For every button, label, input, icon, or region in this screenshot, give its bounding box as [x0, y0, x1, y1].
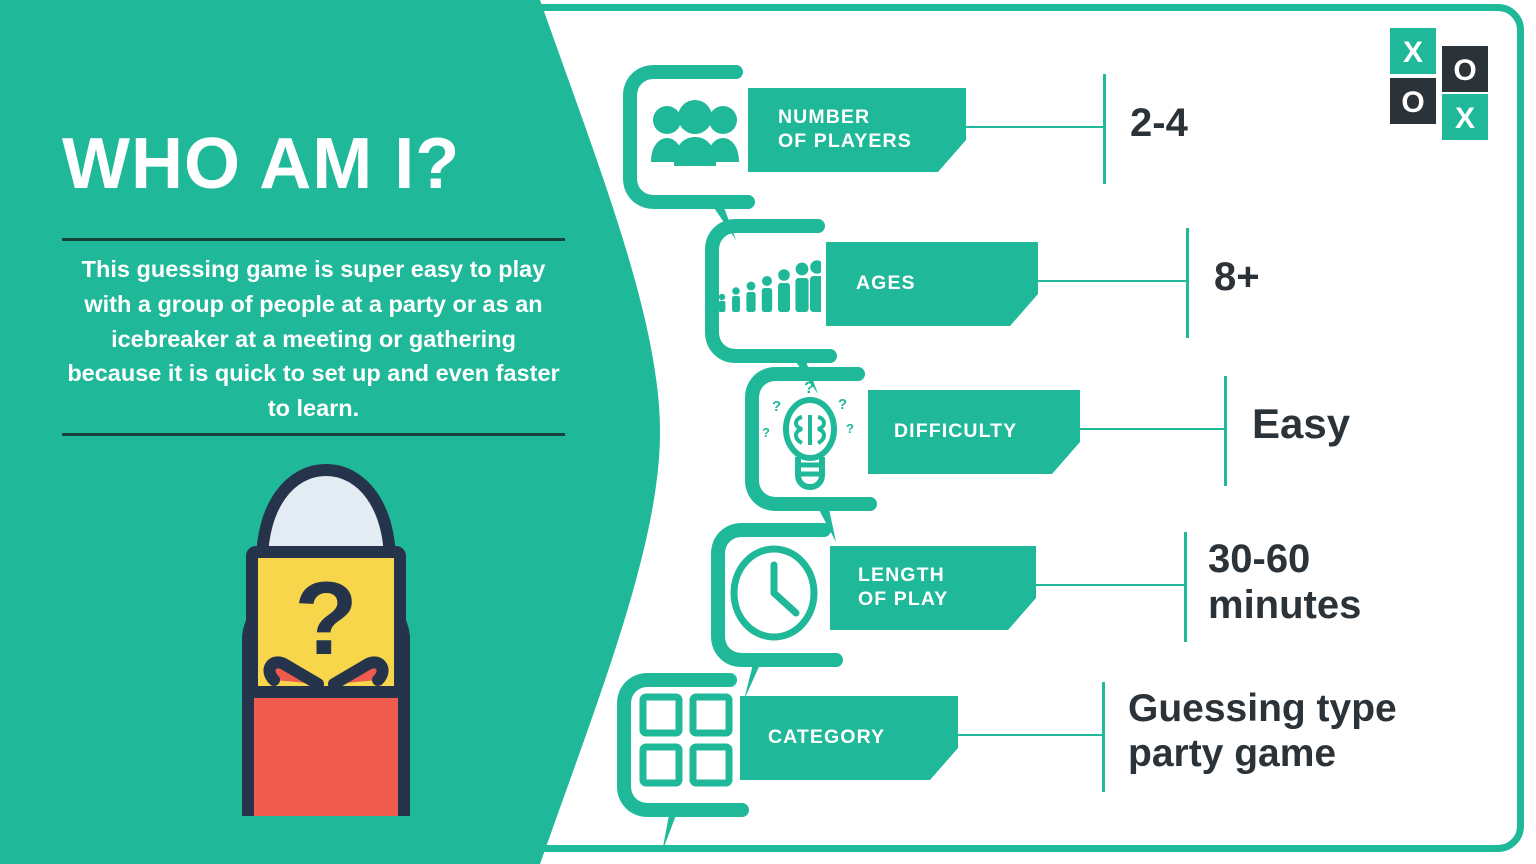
connector-line	[1030, 280, 1186, 282]
person-holding-question-card-illustration: ?	[186, 444, 466, 816]
banner-category: CATEGORY	[740, 696, 958, 780]
card-question-mark: ?	[294, 561, 358, 677]
connector-line	[1028, 584, 1184, 586]
banner-number-of-players: NUMBER OF PLAYERS	[748, 88, 966, 172]
row-label: NUMBER OF PLAYERS	[778, 106, 912, 154]
row-value: Guessing type party game	[1128, 686, 1528, 776]
banner-difficulty: DIFFICULTY	[868, 390, 1080, 474]
row-value: 8+	[1214, 254, 1534, 300]
group-of-people-icon	[644, 92, 746, 174]
svg-text:?: ?	[804, 381, 814, 397]
tick-bar	[1224, 376, 1227, 486]
brain-lightbulb-icon: ? ? ? ? ?	[758, 378, 862, 496]
svg-text:X: X	[1455, 102, 1475, 135]
row-category: CATEGORY Guessing type party game	[612, 668, 1532, 818]
tic-tac-toe-logo: X O O X	[1390, 28, 1490, 140]
clock-icon	[720, 542, 828, 644]
tick-bar	[1103, 74, 1106, 184]
page-title: WHO AM I?	[62, 128, 582, 200]
svg-text:O: O	[1401, 86, 1424, 119]
row-value: Easy	[1252, 400, 1536, 449]
tick-bar	[1102, 682, 1105, 792]
banner-ages: AGES	[826, 242, 1038, 326]
divider-bottom	[62, 433, 565, 436]
four-squares-grid-icon	[634, 690, 738, 790]
row-difficulty: ? ? ? ? ? DIFFICULTY Easy	[740, 362, 1536, 512]
banner-length-of-play: LENGTH OF PLAY	[830, 546, 1036, 630]
svg-text:?: ?	[772, 398, 781, 415]
connector-line	[948, 734, 1102, 736]
row-number-of-players: NUMBER OF PLAYERS 2-4	[618, 60, 1498, 210]
divider-top	[62, 238, 565, 241]
svg-text:?: ?	[846, 421, 854, 436]
row-label: DIFFICULTY	[894, 420, 1017, 444]
tick-bar	[1184, 532, 1187, 642]
connector-line	[956, 126, 1104, 128]
row-label: CATEGORY	[768, 726, 885, 750]
row-value: 30-60 minutes	[1208, 536, 1536, 629]
row-label: LENGTH OF PLAY	[858, 564, 948, 612]
row-label: AGES	[856, 272, 916, 296]
row-ages: AGES 8+	[700, 214, 1520, 364]
infographic-canvas: WHO AM I? This guessing game is super ea…	[0, 0, 1536, 864]
connector-line	[1074, 428, 1224, 430]
svg-text:O: O	[1453, 54, 1476, 87]
svg-text:X: X	[1403, 36, 1423, 69]
svg-text:?: ?	[762, 425, 770, 440]
row-length-of-play: LENGTH OF PLAY 30-60 minutes	[706, 518, 1536, 668]
description-text: This guessing game is super easy to play…	[62, 252, 565, 426]
ages-growth-people-icon	[712, 254, 824, 320]
svg-text:?: ?	[838, 396, 847, 413]
tick-bar	[1186, 228, 1189, 338]
